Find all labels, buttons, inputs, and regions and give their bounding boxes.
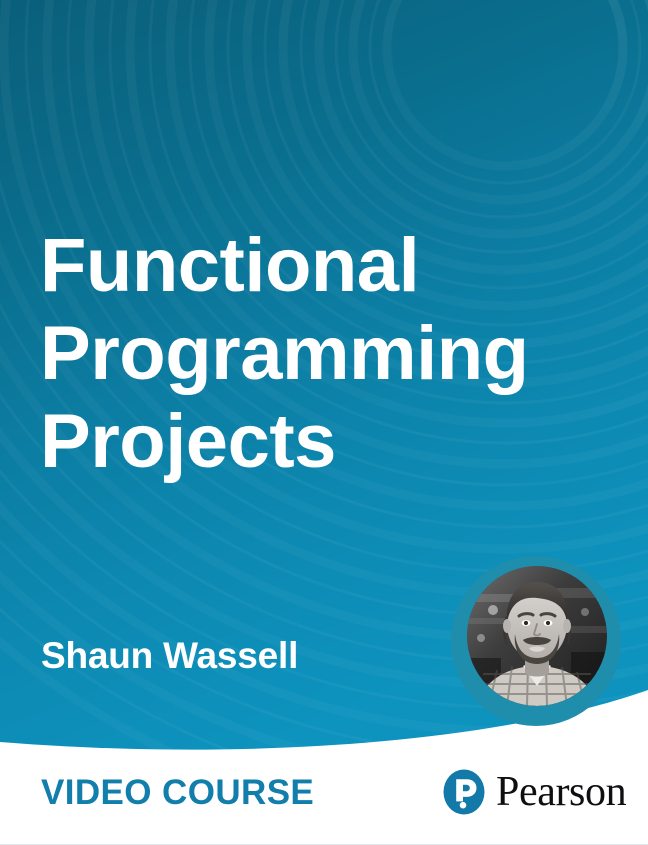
author-photo xyxy=(451,556,621,726)
book-cover: Functional Programming Projects Shaun Wa… xyxy=(0,0,648,845)
cover-footer: VIDEO COURSE Pearson xyxy=(0,761,648,844)
author-name: Shaun Wassell xyxy=(41,634,298,678)
pearson-p-interrobang-icon xyxy=(441,769,487,815)
pearson-wordmark: Pearson xyxy=(496,769,626,815)
format-badge: VIDEO COURSE xyxy=(41,773,314,813)
title-line-2: Programming xyxy=(40,310,620,398)
author-portrait-photo xyxy=(467,566,607,706)
cover-title: Functional Programming Projects xyxy=(40,222,620,486)
title-line-3: Projects xyxy=(40,398,620,486)
pearson-logo: Pearson xyxy=(441,769,626,815)
title-line-1: Functional xyxy=(40,222,620,310)
author-portrait-illustration xyxy=(467,566,607,706)
